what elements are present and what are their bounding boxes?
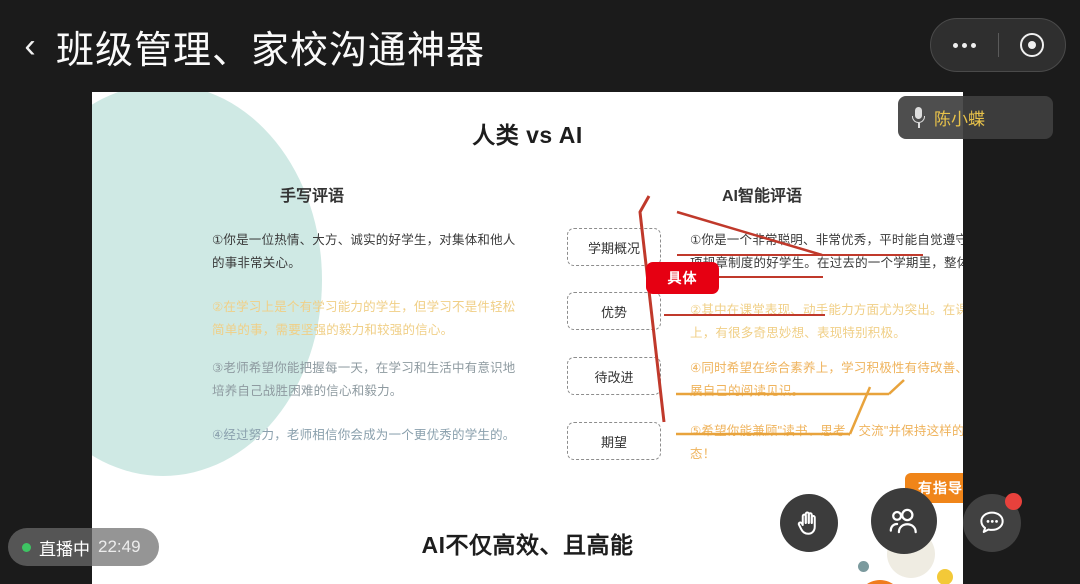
- left-item-1: ①你是一位热情、大方、诚实的好学生，对集体和他人的事非常关心。: [212, 229, 524, 275]
- page-title: 班级管理、家校沟通神器: [56, 16, 485, 76]
- people-icon: [886, 503, 922, 539]
- right-item-1: ①你是一个非常聪明、非常优秀，平时能自觉遵守学校的各项规章制度的好学生。在过去的…: [690, 229, 963, 298]
- badge-specific: 具体: [646, 262, 719, 294]
- more-options-button[interactable]: [931, 19, 998, 71]
- microphone-icon: [912, 107, 925, 128]
- live-status-label: 直播中: [39, 535, 90, 560]
- active-speaker-badge: 陈小蝶: [898, 96, 1053, 139]
- left-item-2: ②在学习上是个有学习能力的学生，但学习不是件轻松简单的事，需要坚强的毅力和较强的…: [212, 296, 524, 342]
- top-navigation-bar: ‹ 班级管理、家校沟通神器: [0, 0, 1080, 92]
- chat-button[interactable]: [963, 494, 1021, 552]
- yellow-dot-decoration: [937, 569, 953, 584]
- slide-title: 人类 vs AI: [92, 116, 963, 150]
- right-item-5: ⑤希望你能兼顾"读书、思考、交流"并保持这样的生命姿态！: [690, 420, 963, 466]
- pill-expectations[interactable]: 期望: [567, 422, 661, 460]
- target-circle-icon: [1020, 33, 1044, 57]
- raise-hand-button[interactable]: [780, 494, 838, 552]
- pill-term-overview[interactable]: 学期概况: [567, 228, 661, 266]
- ai-comments-heading: AI智能评语: [642, 182, 882, 206]
- chat-bubble-icon: [976, 507, 1008, 539]
- left-item-4: ④经过努力，老师相信你会成为一个更优秀的学生的。: [212, 424, 524, 447]
- right-item-4: ④同时希望在综合素养上，学习积极性有待改善、可以多拓展自己的阅读见识。: [690, 357, 963, 403]
- orange-circle-decoration: [857, 580, 903, 584]
- window-controls-capsule: [930, 18, 1066, 72]
- more-dots-icon: [953, 43, 976, 48]
- pill-strengths[interactable]: 优势: [567, 292, 661, 330]
- chat-unread-badge: [1005, 493, 1022, 510]
- handwritten-comments-heading: 手写评语: [222, 182, 402, 206]
- live-status-pill: 直播中 22:49: [8, 528, 159, 566]
- teal-dot-decoration: [858, 561, 869, 572]
- back-icon[interactable]: ‹: [8, 22, 52, 70]
- pill-improvements[interactable]: 待改进: [567, 357, 661, 395]
- close-miniprogram-button[interactable]: [999, 19, 1066, 71]
- left-item-3: ③老师希望你能把握每一天，在学习和生活中有意识地培养自己战胜困难的信心和毅力。: [212, 357, 524, 403]
- participants-button[interactable]: [871, 488, 937, 554]
- right-item-2: ②其中在课堂表现、动手能力方面尤为突出。在课堂表现上，有很多奇思妙想、表现特别积…: [690, 299, 963, 345]
- live-indicator-dot: [22, 543, 31, 552]
- raised-hand-icon: [794, 508, 824, 538]
- speaker-name: 陈小蝶: [934, 105, 985, 130]
- live-class-screen: ‹ 班级管理、家校沟通神器 人类 vs AI 手写评语 AI智能评语 ①你是一位…: [0, 0, 1080, 584]
- live-elapsed-time: 22:49: [98, 537, 141, 557]
